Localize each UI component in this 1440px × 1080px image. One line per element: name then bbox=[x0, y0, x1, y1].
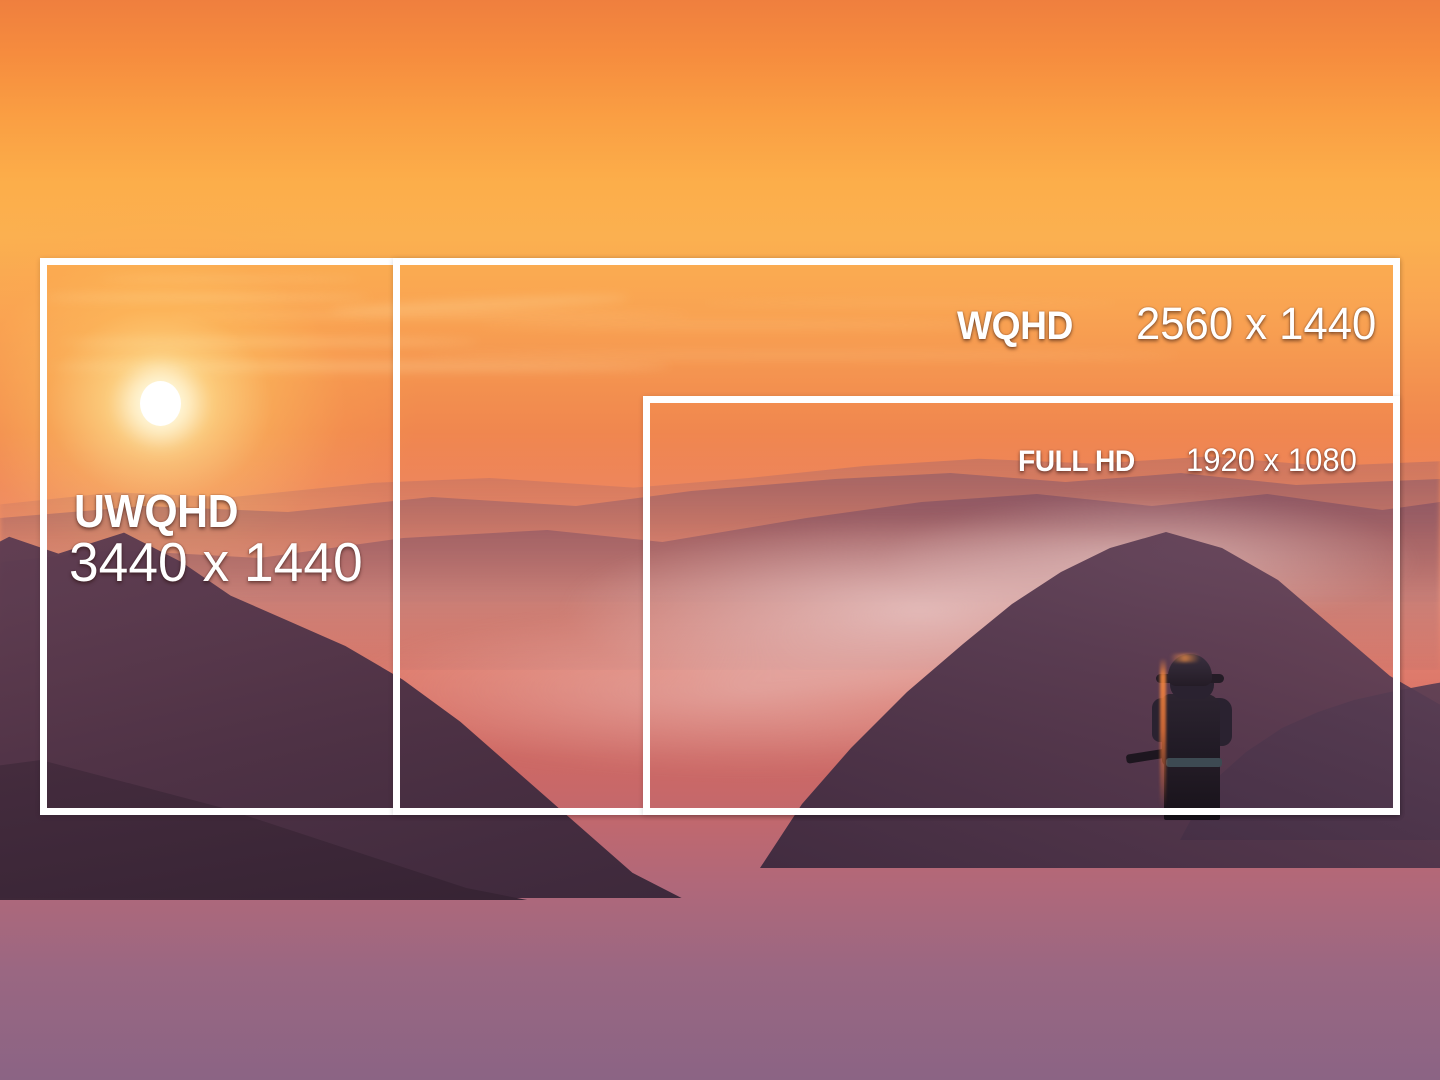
label-uwqhd-name: UWQHD bbox=[74, 489, 351, 533]
label-uwqhd: UWQHD 3440 x 1440 bbox=[74, 489, 372, 591]
resolution-comparison-image: WQHD 2560 x 1440 FULL HD 1920 x 1080 UWQ… bbox=[0, 0, 1440, 1080]
label-wqhd-resolution: 2560 x 1440 bbox=[1136, 298, 1376, 350]
label-wqhd: WQHD 2560 x 1440 bbox=[957, 298, 1383, 350]
label-full-hd: FULL HD 1920 x 1080 bbox=[1018, 442, 1362, 479]
label-full-hd-name: FULL HD bbox=[1018, 445, 1135, 479]
label-uwqhd-resolution: 3440 x 1440 bbox=[69, 533, 363, 591]
label-wqhd-name: WQHD bbox=[957, 304, 1073, 349]
label-full-hd-resolution: 1920 x 1080 bbox=[1186, 442, 1357, 479]
